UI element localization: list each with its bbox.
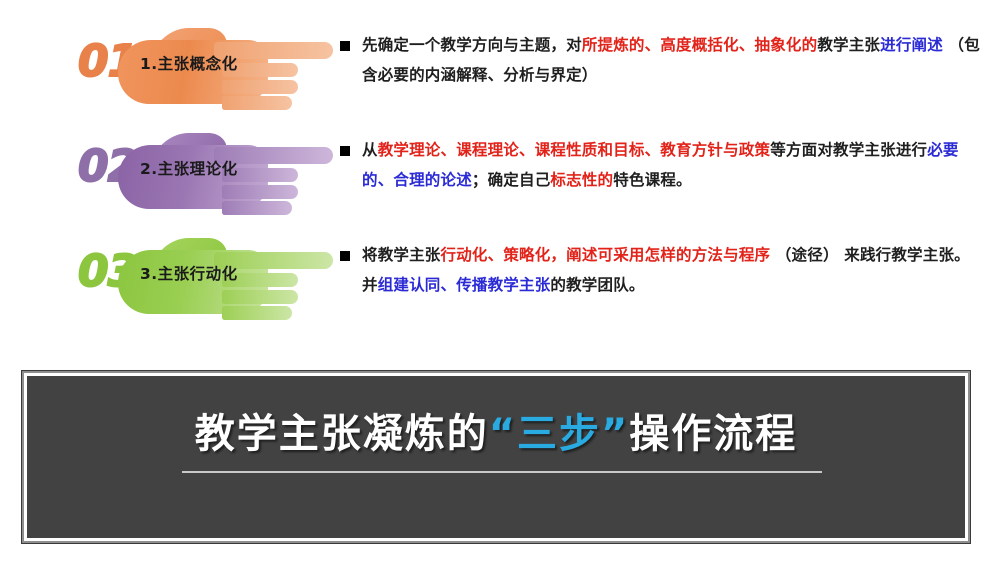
title-underline-rule xyxy=(182,471,822,473)
text-run-red: 所提炼的、高度概括化、抽象化的 xyxy=(582,36,818,54)
text-run-black: 从 xyxy=(362,141,378,159)
bullet-square-icon-2 xyxy=(340,146,350,156)
hand-finger-3 xyxy=(222,290,298,304)
text-run-black: 先确定一个教学方向与主题，对 xyxy=(362,36,582,54)
hand-finger-3 xyxy=(222,185,298,199)
page-title: 教学主张凝炼的“三步”操作流程 xyxy=(24,401,968,459)
title-accent: “三步” xyxy=(489,411,630,457)
title-suffix: 操作流程 xyxy=(629,411,797,457)
text-run-red: 行动化、策略化 xyxy=(441,246,551,264)
step-paragraph-1: 先确定一个教学方向与主题，对所提炼的、高度概括化、抽象化的教学主张进行阐述 （包… xyxy=(362,30,982,90)
hand-finger-4 xyxy=(222,306,292,320)
step-row-1: 01 1.主张概念化 先确定一个教学方向与主题，对所提炼的、高度概括化、抽象化的… xyxy=(0,22,1000,122)
step-label-2: 2.主张理论化 xyxy=(140,157,305,179)
text-run-red: 方法与程序 xyxy=(692,246,771,264)
text-run-black: ；确定自己 xyxy=(472,171,551,189)
text-run-blue: 进行阐述 xyxy=(880,36,943,54)
step-row-3: 03 3.主张行动化 将教学主张行动化、策略化，阐述可采用怎样的方法与程序 （途… xyxy=(0,232,1000,332)
hand-finger-4 xyxy=(222,201,292,215)
bullet-square-icon-3 xyxy=(340,251,350,261)
bullet-square-icon-1 xyxy=(340,41,350,51)
text-run-black: 特色课程。 xyxy=(613,171,692,189)
step-paragraph-2: 从教学理论、课程理论、课程性质和目标、教育方针与政策等方面对教学主张进行必要的、… xyxy=(362,135,982,195)
text-run-black: 的教学团队。 xyxy=(550,276,644,294)
hand-finger-3 xyxy=(222,80,298,94)
text-run-red: ，阐述可采用怎样的 xyxy=(550,246,691,264)
hand-finger-4 xyxy=(222,96,292,110)
title-prefix: 教学主张凝炼的 xyxy=(195,411,489,457)
step-label-3: 3.主张行动化 xyxy=(140,262,305,284)
text-run-black: 教学主张 xyxy=(817,36,880,54)
text-run-red: 标志性的 xyxy=(550,171,613,189)
step-paragraph-3: 将教学主张行动化、策略化，阐述可采用怎样的方法与程序 （途径） 来践行教学主张。… xyxy=(362,240,982,300)
step-label-1: 1.主张概念化 xyxy=(140,52,305,74)
text-run-red: 教学理论、课程理论、课程性质和目标、教育方针与政策 xyxy=(378,141,771,159)
title-banner: 教学主张凝炼的“三步”操作流程 xyxy=(22,371,970,543)
step-row-2: 02 2.主张理论化 从教学理论、课程理论、课程性质和目标、教育方针与政策等方面… xyxy=(0,127,1000,227)
text-run-black: 等方面对教学主张进行 xyxy=(770,141,927,159)
text-run-black: 将教学主张 xyxy=(362,246,441,264)
text-run-blue: 组建认同、传播教学主张 xyxy=(378,276,551,294)
